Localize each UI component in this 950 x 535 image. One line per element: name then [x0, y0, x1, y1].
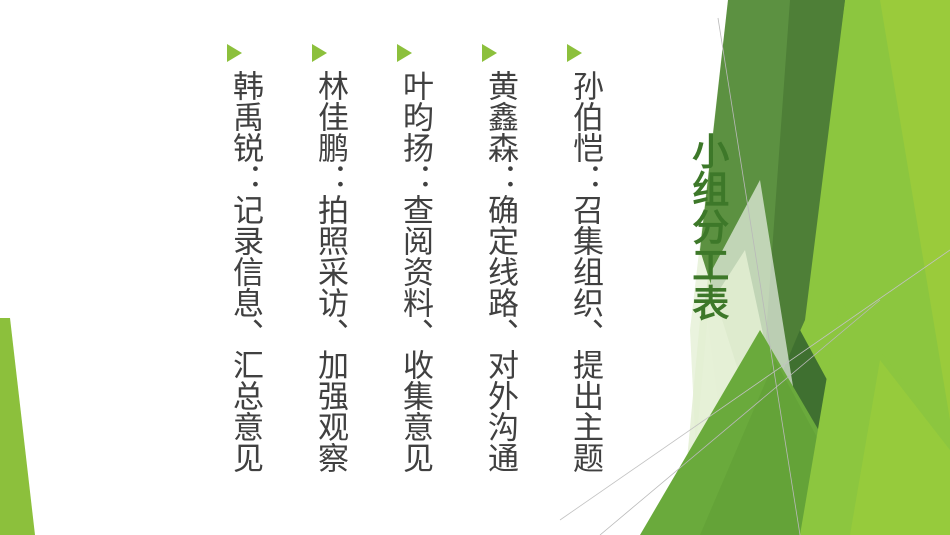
list-item-label: 黄鑫森：确定线路、对外沟通: [473, 70, 517, 473]
list-item-label: 林佳鹏：拍照采访、加强观察: [303, 70, 347, 473]
presentation-slide: 小组分工表 孙伯恺：召集组织、提出主题 黄鑫森：确定线路、对外沟通 叶昀扬：查阅…: [0, 0, 950, 535]
bullet-list: 孙伯恺：召集组织、提出主题 黄鑫森：确定线路、对外沟通 叶昀扬：查阅资料、收集意…: [150, 44, 602, 474]
triangle-right-icon: [227, 44, 242, 62]
page-title: 小组分工表: [671, 132, 727, 322]
triangle-right-icon: [567, 44, 582, 62]
triangle-right-icon: [397, 44, 412, 62]
list-item[interactable]: 林佳鹏：拍照采访、加强观察: [303, 44, 347, 474]
triangle-right-icon: [482, 44, 497, 62]
slide-content: 小组分工表 孙伯恺：召集组织、提出主题 黄鑫森：确定线路、对外沟通 叶昀扬：查阅…: [0, 0, 950, 535]
list-item-label: 叶昀扬：查阅资料、收集意见: [388, 70, 432, 473]
triangle-right-icon: [312, 44, 327, 62]
list-item-label: 孙伯恺：召集组织、提出主题: [558, 70, 602, 473]
list-item[interactable]: 黄鑫森：确定线路、对外沟通: [473, 44, 517, 474]
list-item[interactable]: 叶昀扬：查阅资料、收集意见: [388, 44, 432, 474]
list-item[interactable]: 韩禹锐：记录信息、汇总意见: [218, 44, 262, 474]
list-item[interactable]: 孙伯恺：召集组织、提出主题: [558, 44, 602, 474]
list-item-label: 韩禹锐：记录信息、汇总意见: [218, 70, 262, 473]
